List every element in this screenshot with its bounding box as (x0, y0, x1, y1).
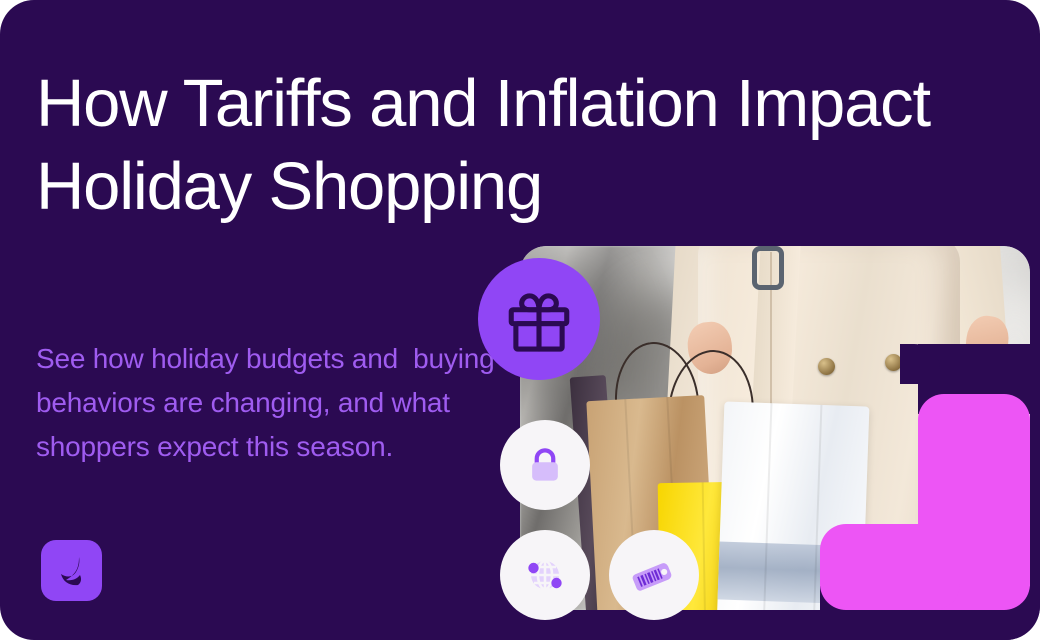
hero-card: How Tariffs and Inflation Impact Holiday… (0, 0, 1040, 640)
magenta-accent-shape-foot (820, 524, 960, 610)
gift-icon (502, 282, 576, 356)
gift-icon-bubble[interactable] (478, 258, 600, 380)
photo-coat-button (818, 358, 835, 375)
subtitle-text: See how holiday budgets and buying behav… (36, 337, 506, 469)
photo-strap (752, 246, 784, 290)
brand-logo-mark (52, 551, 92, 591)
shopping-bag-icon (523, 443, 567, 487)
globe-icon (521, 551, 569, 599)
shopping-bag-icon-bubble[interactable] (500, 420, 590, 510)
price-tag-barcode-icon (629, 550, 679, 600)
brand-logo[interactable] (41, 540, 102, 601)
price-tag-icon-bubble[interactable] (609, 530, 699, 620)
page-title: How Tariffs and Inflation Impact Holiday… (36, 62, 966, 228)
globe-icon-bubble[interactable] (500, 530, 590, 620)
